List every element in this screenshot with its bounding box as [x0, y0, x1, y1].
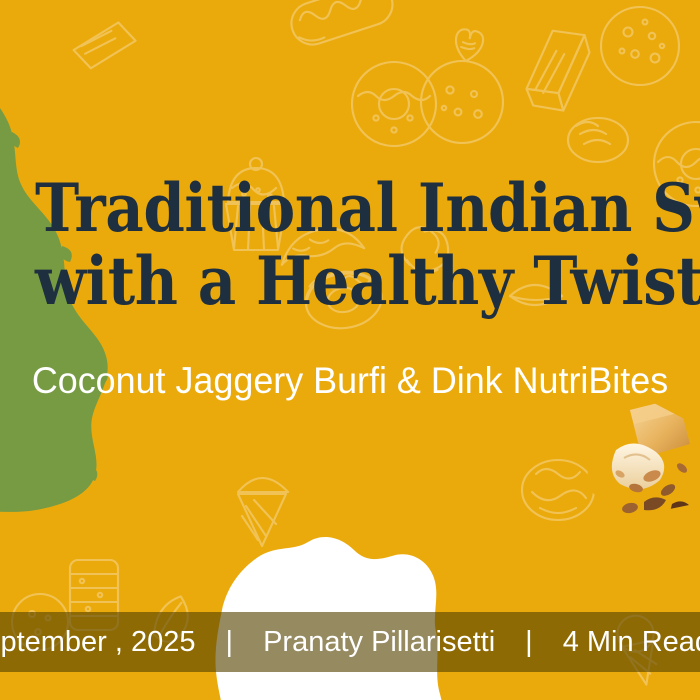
- cookie-icon: [601, 7, 679, 85]
- swiss-roll-icon: [302, 267, 385, 333]
- meta-author: Pranaty Pillarisetti: [261, 626, 497, 659]
- eclair-icon: [286, 0, 398, 50]
- croissant-icon: [277, 223, 365, 265]
- pretzel-icon: [397, 224, 453, 277]
- donut-icon: [352, 62, 436, 146]
- blog-banner-poster: Traditional Indian Sweets with a Healthy…: [0, 0, 700, 700]
- pretzel-icon: [522, 460, 594, 520]
- bread-loaf-icon: [568, 118, 628, 162]
- cake-slice-icon: [510, 20, 608, 120]
- swiss-roll-icon: [70, 12, 139, 79]
- green-torn-paper-blob: [0, 78, 170, 528]
- donut-icon: [654, 122, 700, 206]
- meta-separator-2: |: [497, 626, 561, 659]
- cookie-icon: [421, 61, 503, 143]
- cupcake-icon: [226, 158, 286, 250]
- heart-cookie-icon: [452, 28, 484, 63]
- meta-read-time: 4 Min Read: [561, 626, 700, 659]
- subtitle: Coconut Jaggery Burfi & Dink NutriBites: [11, 362, 690, 401]
- meta-bar: September , 2025 | Pranaty Pillarisetti …: [0, 612, 700, 672]
- sweets-food-photo: [586, 392, 700, 522]
- meta-date: September , 2025: [0, 626, 198, 659]
- meta-separator-1: |: [198, 626, 262, 659]
- macaron-icon: [510, 285, 562, 305]
